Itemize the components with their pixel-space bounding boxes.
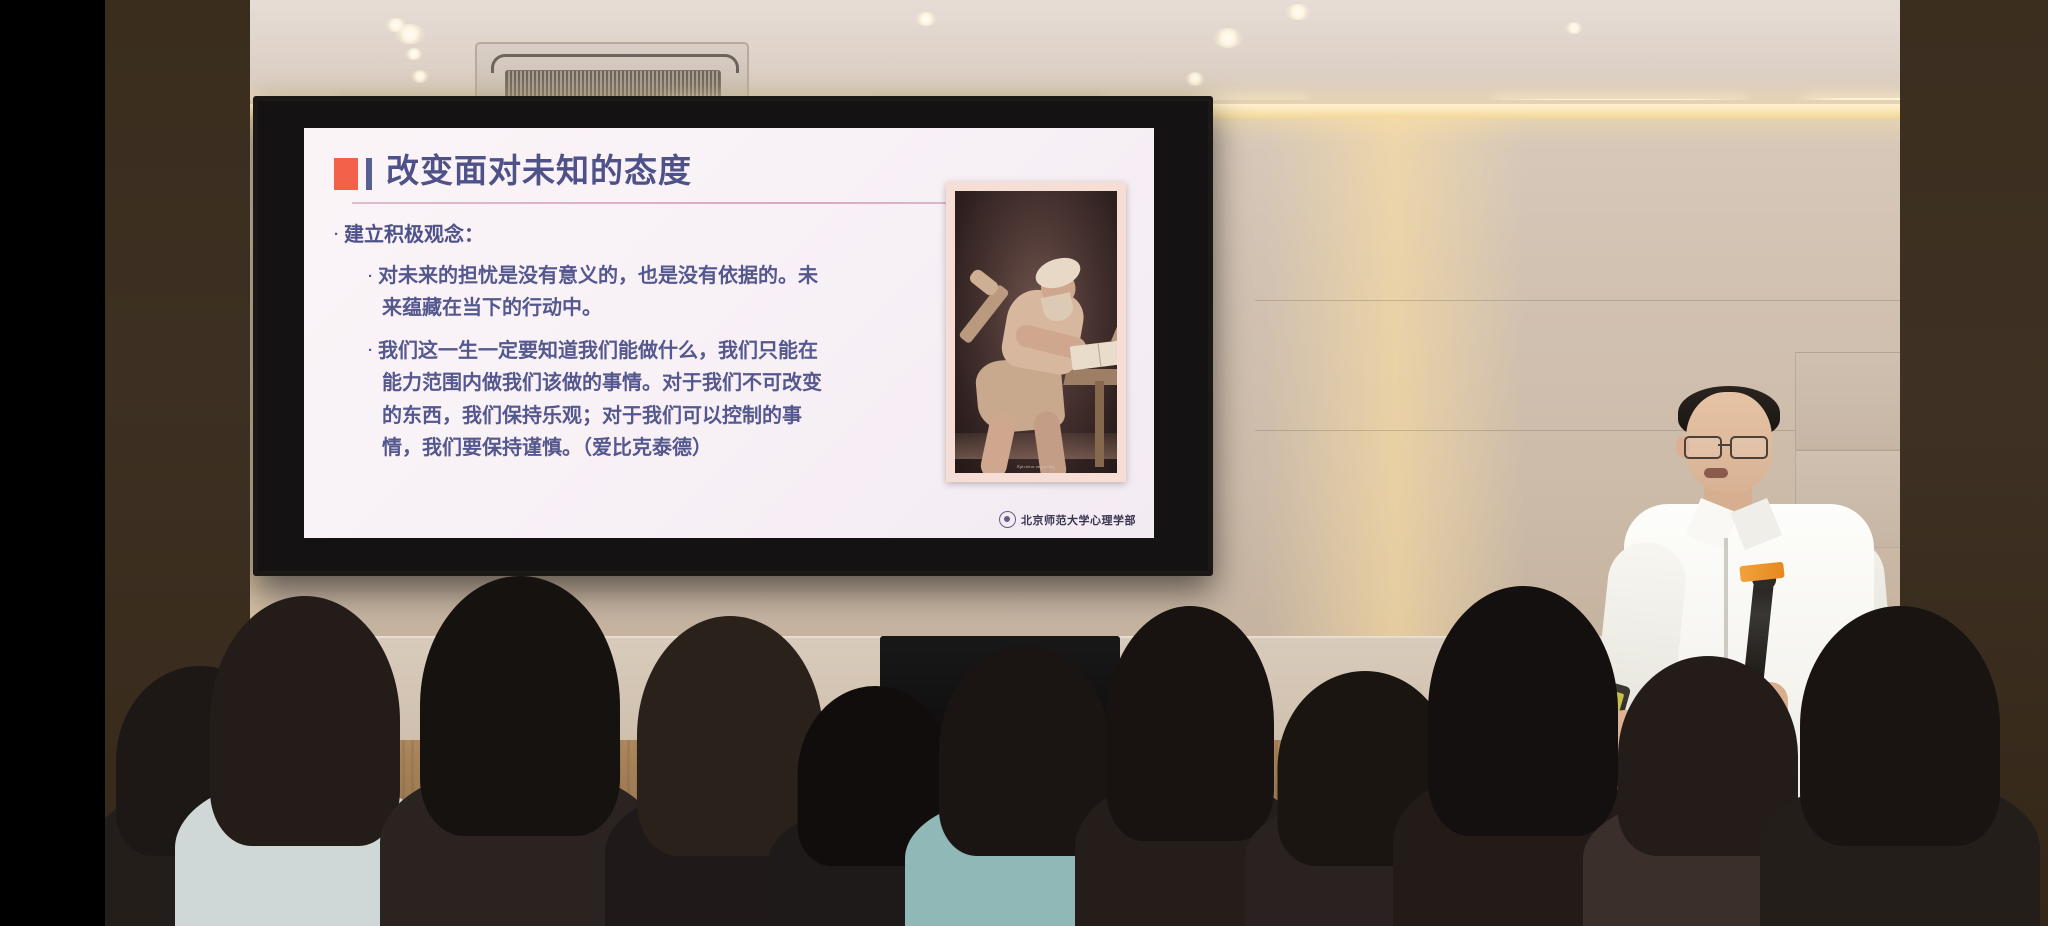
lecture-hall: 改变面对未知的态度 ·建立积极观念： ·对未来的担忧是没有意义的，也是没有依据的… bbox=[105, 0, 2048, 926]
audience-hair bbox=[1106, 606, 1274, 841]
audience-hair bbox=[210, 596, 400, 846]
bullet-marker: · bbox=[334, 226, 339, 243]
slide-content: 改变面对未知的态度 ·建立积极观念： ·对未来的担忧是没有意义的，也是没有依据的… bbox=[304, 128, 1154, 538]
presenter-mouth bbox=[1704, 468, 1728, 478]
photo-frame: 改变面对未知的态度 ·建立积极观念： ·对未来的担忧是没有意义的，也是没有依据的… bbox=[0, 0, 2048, 926]
downlight bbox=[395, 24, 425, 44]
wall-warm-glow bbox=[1265, 118, 1525, 638]
downlight bbox=[411, 70, 429, 83]
seal-icon bbox=[999, 511, 1016, 528]
bullet-level2: ·对未来的担忧是没有意义的，也是没有依据的。未来蕴藏在当下的行动中。 bbox=[368, 260, 834, 325]
title-accent-blue-icon bbox=[366, 158, 372, 190]
writing-desk bbox=[1063, 369, 1117, 385]
projection-screen: 改变面对未知的态度 ·建立积极观念： ·对未来的担忧是没有意义的，也是没有依据的… bbox=[253, 96, 1213, 576]
engraving-caption: Epictetus engraving bbox=[955, 464, 1117, 470]
downlight bbox=[1285, 4, 1311, 20]
downlight bbox=[405, 48, 423, 60]
engraving-plate: Epictetus engraving bbox=[955, 191, 1117, 473]
audience-hair bbox=[1428, 586, 1618, 836]
slide-footer-logo: 北京师范大学心理学部 bbox=[999, 511, 1136, 528]
slide-surface: 改变面对未知的态度 ·建立积极观念： ·对未来的担忧是没有意义的，也是没有依据的… bbox=[304, 128, 1154, 538]
audience-member bbox=[405, 586, 635, 926]
letterbox-left bbox=[0, 0, 105, 926]
bullet-text: 我们这一生一定要知道我们能做什么，我们只能在能力范围内做我们该做的事情。对于我们… bbox=[378, 340, 822, 459]
title-accent-red-icon bbox=[334, 158, 358, 190]
glasses-bridge bbox=[1718, 444, 1730, 446]
epictetus-engraving: Epictetus engraving bbox=[946, 182, 1126, 482]
bullet-marker: · bbox=[368, 342, 373, 359]
downlight bbox=[1185, 72, 1205, 86]
audience-member bbox=[1785, 626, 2015, 926]
audience-hair bbox=[420, 576, 620, 836]
glasses-lens-right bbox=[1730, 436, 1768, 459]
institution-name: 北京师范大学心理学部 bbox=[1021, 512, 1136, 528]
desk-leg bbox=[1095, 381, 1104, 467]
glasses-lens-left bbox=[1684, 436, 1722, 459]
bullet-text: 建立积极观念： bbox=[344, 224, 484, 246]
glasses-icon bbox=[1682, 436, 1774, 456]
audience-hair bbox=[1800, 606, 2000, 846]
bullet-level2: ·我们这一生一定要知道我们能做什么，我们只能在能力范围内做我们该做的事情。对于我… bbox=[368, 335, 834, 465]
downlight bbox=[1213, 28, 1243, 48]
slide-bullet-list: ·建立积极观念： ·对未来的担忧是没有意义的，也是没有依据的。未来蕴藏在当下的行… bbox=[334, 220, 834, 464]
book-stand bbox=[1111, 313, 1117, 341]
figure-hair bbox=[1032, 253, 1084, 294]
bullet-text: 对未来的担忧是没有意义的，也是没有依据的。未来蕴藏在当下的行动中。 bbox=[378, 265, 818, 319]
bullet-marker: · bbox=[368, 268, 373, 285]
bullet-level1: ·建立积极观念： bbox=[334, 220, 834, 250]
slide-title: 改变面对未知的态度 bbox=[386, 154, 692, 187]
downlight bbox=[1565, 22, 1583, 34]
downlight bbox=[915, 12, 937, 26]
